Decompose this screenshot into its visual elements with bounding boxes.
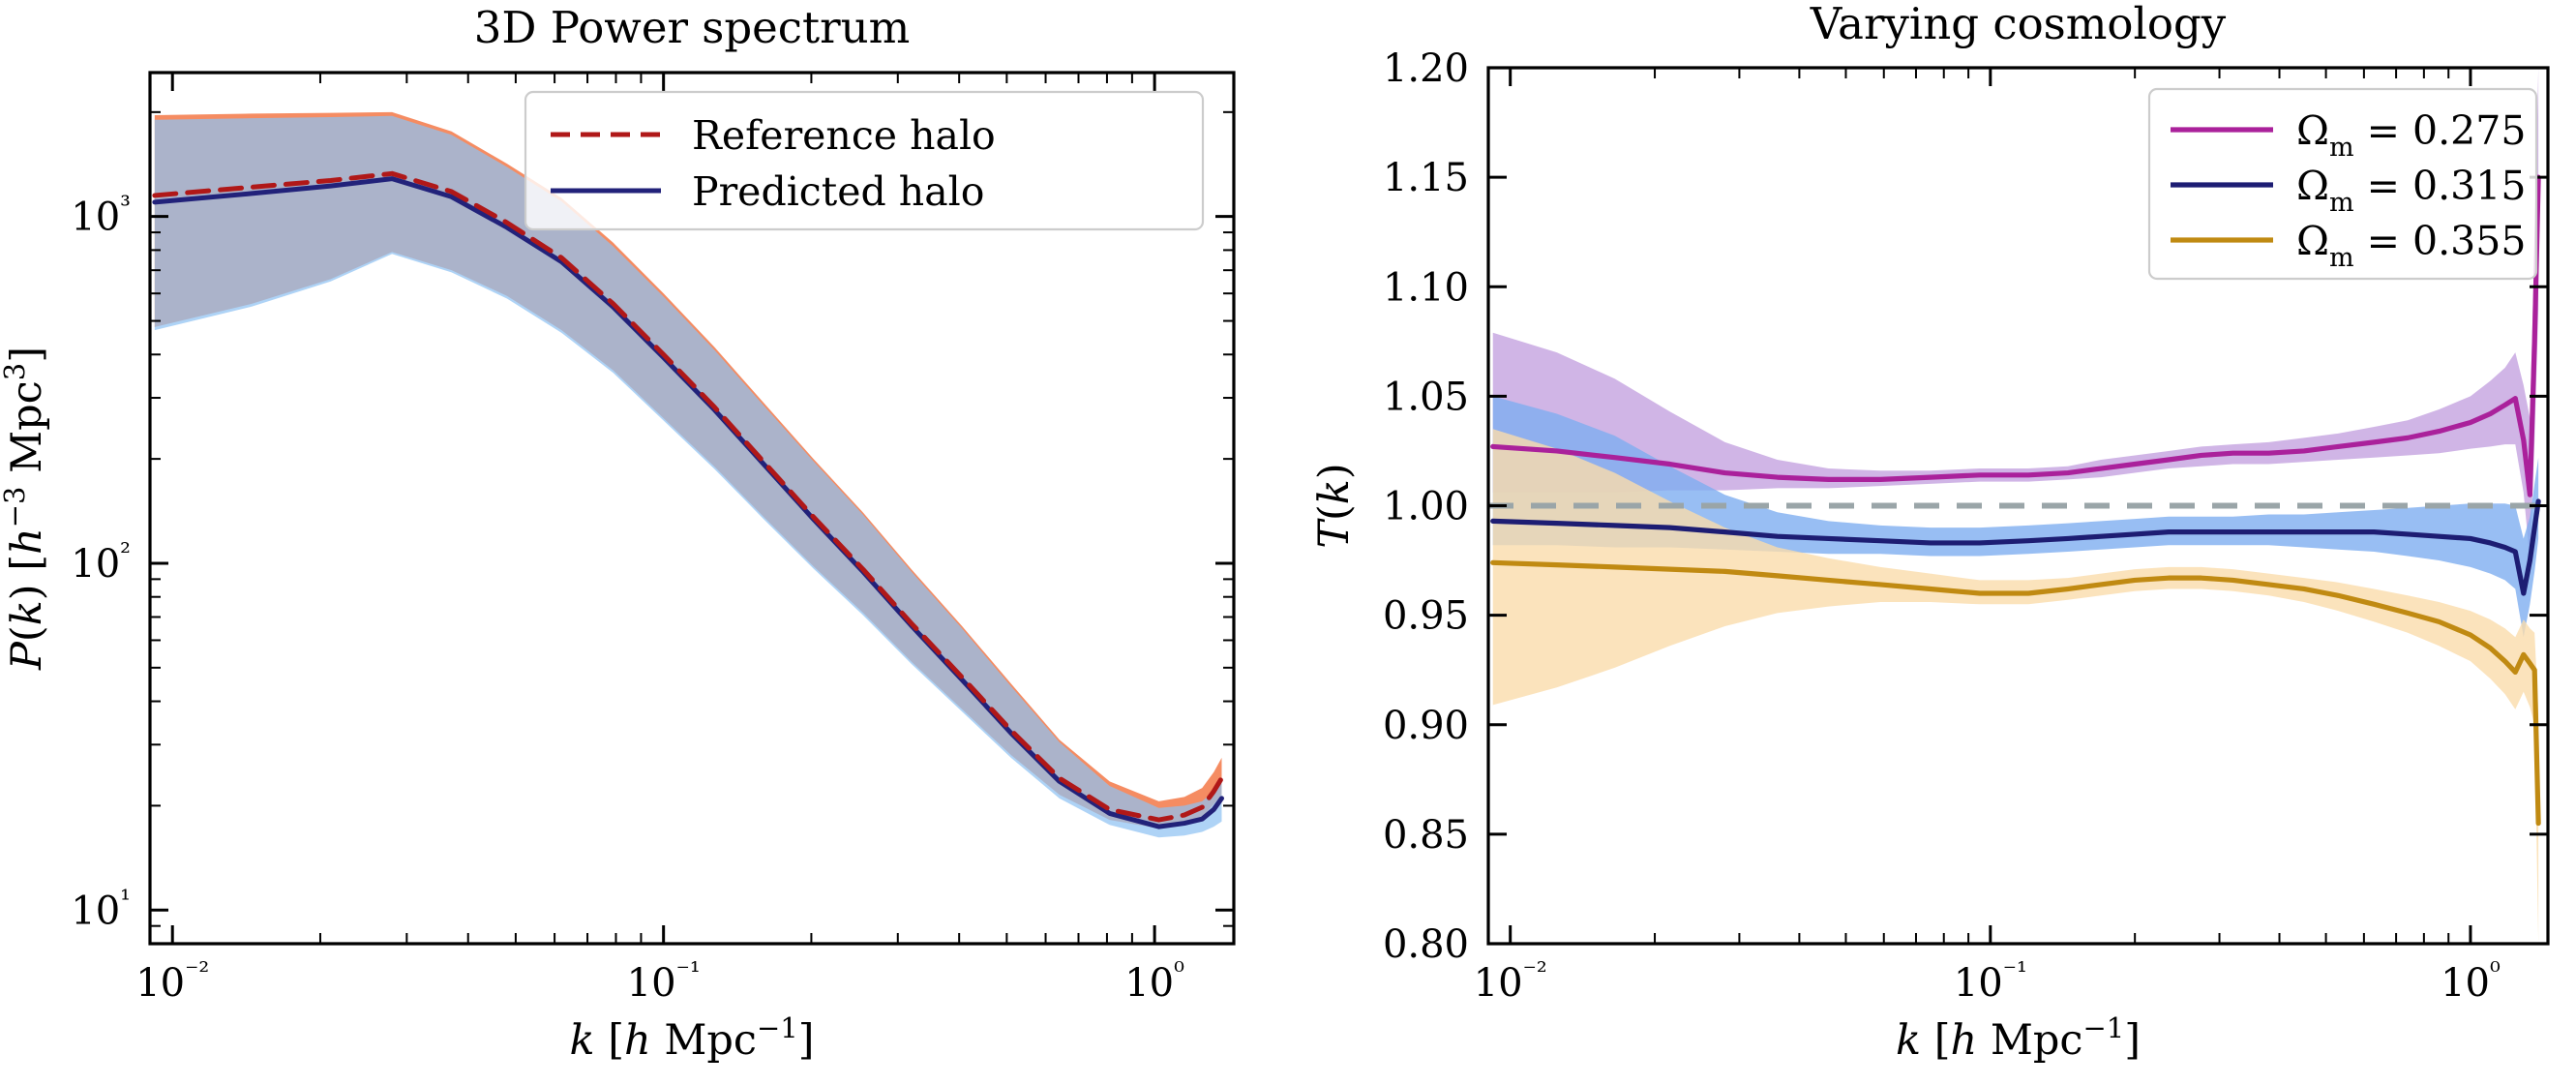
legend-label-1: Reference halo [692, 112, 996, 159]
y-tick-label: 10³ [71, 192, 131, 240]
panel-varying-cosmology: 10⁻²10⁻¹10⁰0.800.850.900.951.001.051.101… [1288, 0, 2576, 1085]
x-tick-label: 10⁻¹ [627, 957, 701, 1006]
legend-label-2: Predicted halo [692, 168, 984, 215]
x-axis-label: k [h Mpc−1] [1896, 1011, 2141, 1065]
x-tick-label: 10⁻² [135, 957, 209, 1006]
y-tick-label: 1.10 [1383, 265, 1469, 310]
varying-cosmology-plot: 10⁻²10⁻¹10⁰0.800.850.900.951.001.051.101… [1288, 0, 2576, 1085]
power-spectrum-plot: 10⁻²10⁻¹10⁰10¹10²10³3D Power spectrumk [… [0, 0, 1288, 1085]
figure-canvas: 10⁻²10⁻¹10⁰10¹10²10³3D Power spectrumk [… [0, 0, 2576, 1085]
y-tick-label: 1.05 [1383, 375, 1469, 419]
y-tick-label: 0.85 [1383, 813, 1469, 858]
y-tick-label: 0.80 [1383, 922, 1469, 967]
y-tick-label: 1.15 [1383, 156, 1469, 200]
y-axis-label: P(k) [h−3 Mpc3] [0, 347, 51, 671]
x-axis-label: k [h Mpc−1] [569, 1011, 814, 1065]
panel-title: Varying cosmology [1810, 0, 2227, 49]
x-tick-label: 10⁰ [2441, 957, 2501, 1006]
x-tick-label: 10⁰ [1124, 957, 1184, 1006]
panel-title: 3D Power spectrum [474, 2, 911, 53]
x-tick-label: 10⁻¹ [1954, 957, 2027, 1006]
y-tick-label: 1.20 [1383, 46, 1469, 91]
y-tick-label: 10² [71, 538, 131, 587]
y-axis-label: T(k) [1310, 463, 1359, 548]
panel-power-spectrum: 10⁻²10⁻¹10⁰10¹10²10³3D Power spectrumk [… [0, 0, 1288, 1085]
y-tick-label: 1.00 [1383, 485, 1469, 529]
y-tick-label: 0.90 [1383, 704, 1469, 748]
x-tick-label: 10⁻² [1474, 957, 1547, 1006]
y-tick-label: 10¹ [71, 885, 131, 933]
y-tick-label: 0.95 [1383, 594, 1469, 639]
